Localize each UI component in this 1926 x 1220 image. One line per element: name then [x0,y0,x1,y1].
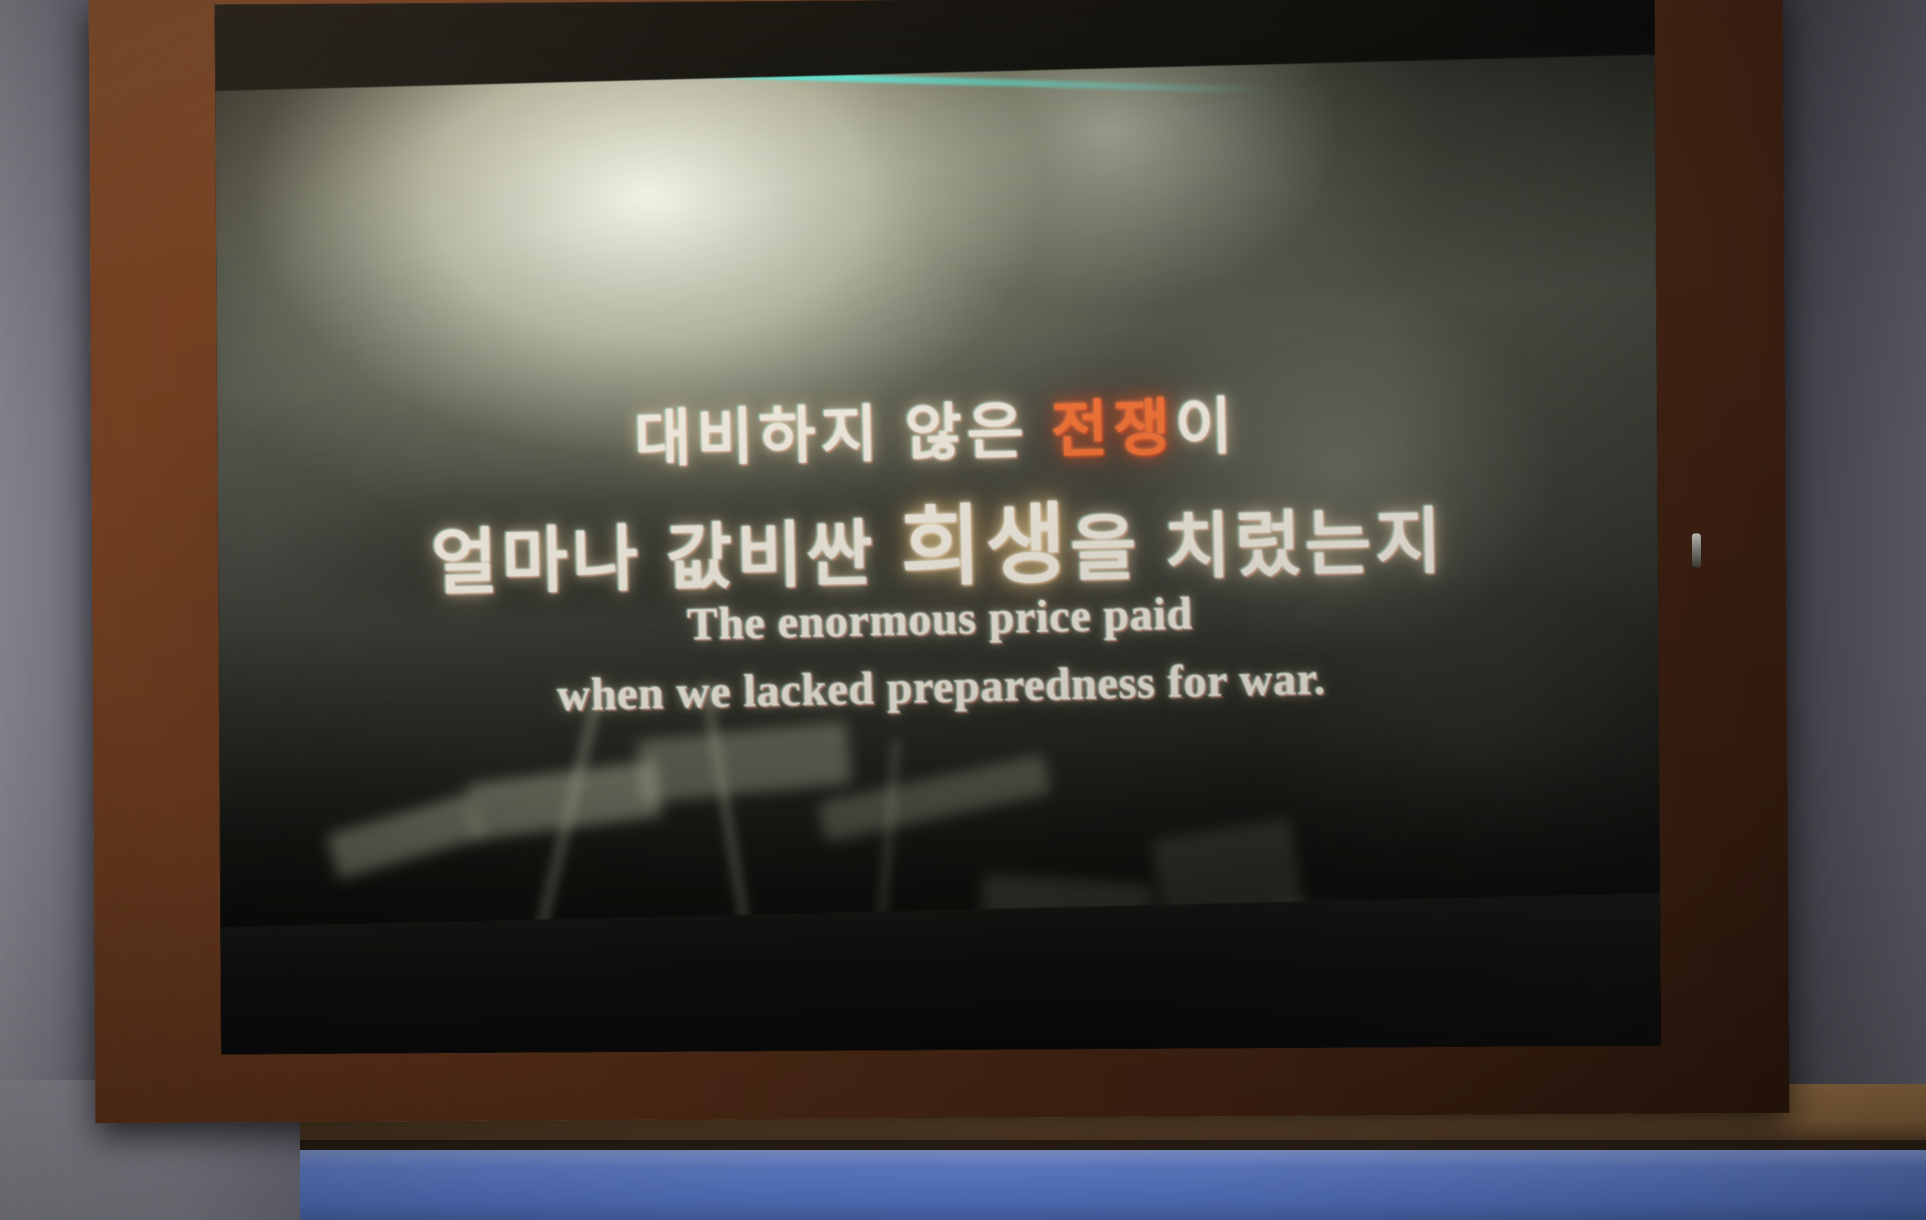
exhibit-room: 대비하지 않은 전쟁이 얼마나 값비싼 희생을 치렀는지 The enormou… [0,0,1926,1220]
korean-highlight-sacrifice: 희생 [900,494,1072,597]
korean-text-segment: 이 [1174,392,1238,462]
korean-text-segment: 얼마나 값비싼 [431,514,902,604]
frame-highlight-nail [1692,533,1701,567]
korean-text-segment: 을 치렀는지 [1069,502,1446,590]
subtitle-english-line-2: when we lacked preparedness for war. [221,644,1661,728]
korean-text-segment: 대비하지 않은 [634,397,1052,475]
picture-frame: 대비하지 않은 전쟁이 얼마나 값비싼 희생을 치렀는지 The enormou… [89,0,1790,1123]
projection-screen: 대비하지 않은 전쟁이 얼마나 값비싼 희생을 치렀는지 The enormou… [215,0,1661,1054]
subtitle-block: 대비하지 않은 전쟁이 얼마나 값비싼 희생을 치렀는지 The enormou… [215,0,1661,1054]
skirting-blue [300,1150,1926,1220]
wall-panel-right [1776,0,1926,1220]
korean-highlight-war: 전쟁 [1050,394,1176,466]
